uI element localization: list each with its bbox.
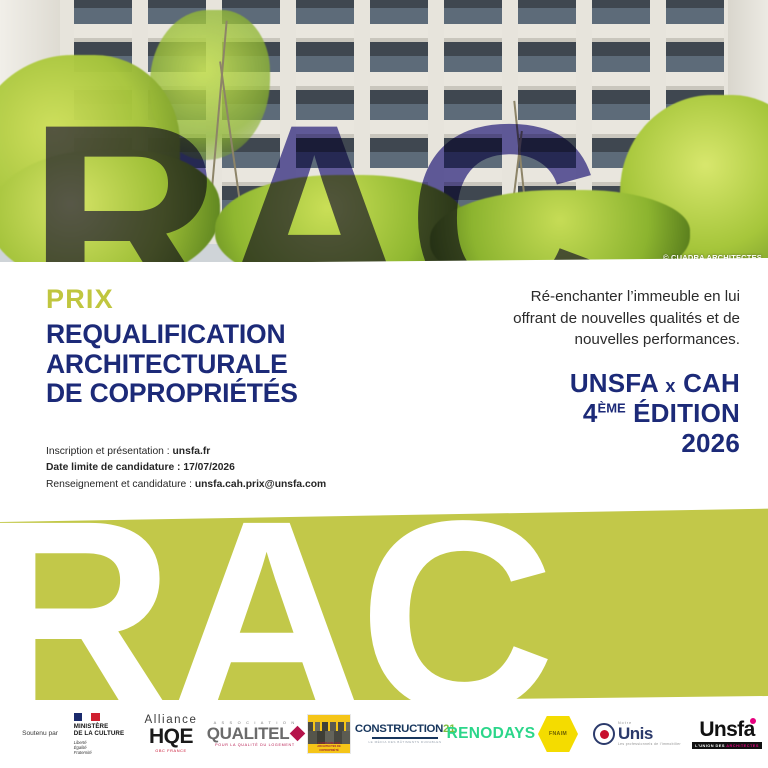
edition-ordinal: ÈME: [598, 400, 626, 415]
logo-renodays[interactable]: RENODAYS: [452, 726, 530, 742]
logo-ministere-de-la-culture[interactable]: MINISTÈRE DE LA CULTURE Liberté Égalité …: [58, 713, 132, 756]
unis-sub: Les professionnels de l’immobilier: [618, 742, 681, 746]
unis-circle-icon: [593, 723, 615, 745]
photo-overlay-letters: RAC: [28, 84, 597, 268]
logo-construction21[interactable]: CONSTRUCTION21 LE MÉDIA DES BÂTIMENTS DU…: [358, 724, 452, 745]
alliance-hqe-main: HQE: [149, 726, 193, 747]
edition-block: UNSFA x CAH 4ÈME ÉDITION 2026: [504, 368, 740, 458]
title-line-3: DE COPROPRIÉTÉS: [46, 379, 446, 409]
right-text-block: Ré-enchanter l’immeuble en lui offrant d…: [504, 286, 740, 458]
unsfa-sub-a: L’UNION DES: [695, 743, 726, 748]
title-block: PRIX REQUALIFICATION ARCHITECTURALE DE C…: [46, 286, 446, 409]
title-line-1: REQUALIFICATION: [46, 320, 446, 350]
hero-photo: RAC © CUADRA ARCHITECTES: [0, 0, 768, 268]
partner-cah: CAH: [683, 368, 740, 398]
poster-root: RAC © CUADRA ARCHITECTES PRIX REQUALIFIC…: [0, 0, 768, 768]
renodays-main: RENODAYS: [447, 726, 536, 742]
pink-dot-icon: [750, 718, 756, 724]
partner-separator: x: [665, 376, 675, 396]
practical-info-block: Inscription et présentation : unsfa.fr D…: [46, 444, 326, 493]
info-value-website[interactable]: unsfa.fr: [173, 446, 211, 457]
ministere-line-1: MINISTÈRE: [74, 723, 124, 731]
page-title: REQUALIFICATION ARCHITECTURALE DE COPROP…: [46, 320, 446, 409]
info-label: Renseignement et candidature :: [46, 479, 192, 490]
unsfa-main: Unsfa: [699, 718, 754, 741]
green-band: RAC: [0, 504, 768, 702]
french-flag-icon: [74, 713, 100, 721]
info-row-deadline: Date limite de candidature : 17/07/2026: [46, 460, 326, 476]
unsfa-sub-b: ARCHITECTES: [726, 743, 759, 748]
sponsor-footer: Soutenu par MINISTÈRE DE LA CULTURE Libe…: [0, 700, 768, 768]
partner-unsfa: UNSFA: [570, 368, 658, 398]
green-band-letters: RAC: [0, 504, 549, 702]
info-value-email[interactable]: unsfa.cah.prix@unsfa.com: [195, 479, 326, 490]
qualitel-sub: POUR LA QUALITÉ DU LOGEMENT: [215, 743, 295, 747]
republic-motto: Liberté Égalité Fraternité: [74, 740, 124, 756]
alliance-hqe-sub: GBC FRANCE: [155, 748, 187, 753]
unis-main: Unis: [618, 725, 681, 742]
partners-line: UNSFA x CAH: [504, 368, 740, 398]
info-row-contact: Renseignement et candidature : unsfa.cah…: [46, 477, 326, 493]
construction21-sub: LE MÉDIA DES BÂTIMENTS DURABLES: [368, 740, 441, 744]
edition-number: 4: [583, 398, 598, 428]
compagnie-caption: COMPAGNIE DES ARCHITECTES DE COPROPRIÉTÉ: [309, 742, 349, 752]
edition-line: 4ÈME ÉDITION: [504, 398, 740, 428]
logo-association-qualitel[interactable]: A S S O C I A T I O N QUALITEL POUR LA Q…: [210, 721, 300, 747]
logo-alliance-hqe[interactable]: Alliance HQE GBC FRANCE: [132, 715, 210, 754]
soutenu-par-label: Soutenu par: [14, 730, 58, 739]
fnaim-main: FNAIM: [549, 731, 567, 737]
info-label: Inscription et présentation :: [46, 446, 170, 457]
title-line-2: ARCHITECTURALE: [46, 350, 446, 380]
prix-label: PRIX: [46, 286, 446, 313]
qualitel-main: QUALITEL: [207, 725, 290, 742]
info-row-inscription: Inscription et présentation : unsfa.fr: [46, 444, 326, 460]
ministere-line-2: DE LA CULTURE: [74, 730, 124, 738]
logo-compagnie-architectes-copropriete[interactable]: COMPAGNIE DES ARCHITECTES DE COPROPRIÉTÉ: [300, 714, 358, 754]
construction21-main: CONSTRUCTION: [355, 723, 443, 735]
logo-fnaim[interactable]: FNAIM: [530, 716, 586, 752]
logo-unis[interactable]: Notre Unis Les professionnels de l’immob…: [586, 722, 688, 747]
logo-unsfa[interactable]: Unsfa L’UNION DES ARCHITECTES: [688, 719, 766, 750]
info-label: Date limite de candidature :: [46, 462, 180, 473]
underline-rule: [372, 737, 438, 739]
edition-year: 2026: [504, 428, 740, 458]
hexagon-icon: FNAIM: [538, 716, 578, 752]
info-value-date: 17/07/2026: [183, 462, 235, 473]
tagline: Ré-enchanter l’immeuble en lui offrant d…: [504, 286, 740, 351]
sponsor-logo-row: MINISTÈRE DE LA CULTURE Liberté Égalité …: [58, 713, 768, 756]
edition-word: ÉDITION: [633, 398, 740, 428]
